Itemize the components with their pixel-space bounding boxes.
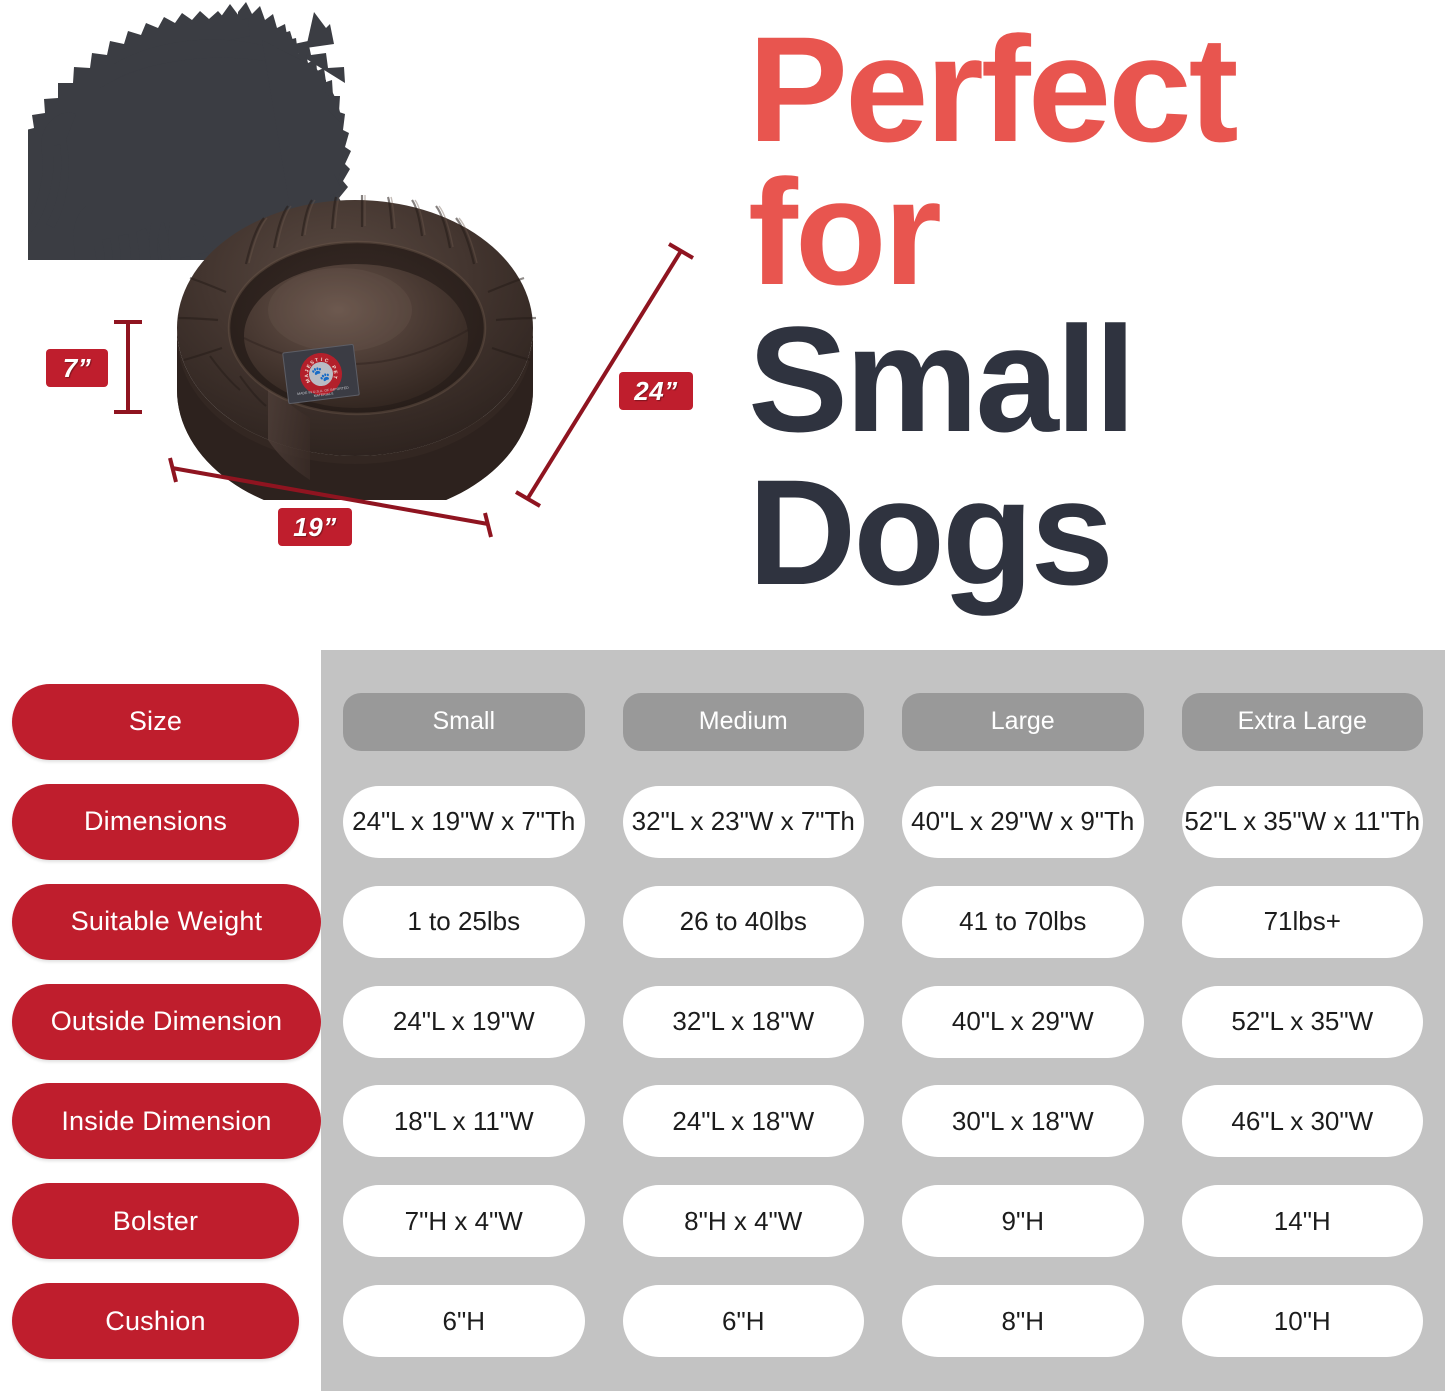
- cell-value: 41 to 70lbs: [902, 886, 1144, 958]
- column-header-large: Large: [902, 693, 1144, 751]
- row-label-dimensions: Dimensions: [12, 784, 299, 860]
- cell-value: 40"L x 29"W x 9"Th: [902, 786, 1144, 858]
- table-row: Dimensions: [12, 772, 321, 872]
- cell-value: 52"L x 35"W x 11"Th: [1182, 786, 1424, 858]
- table-row: Inside Dimension: [12, 1071, 321, 1171]
- hero-section: 🐾 MAJESTICPET MADE IN U.S.A. OF IMPORTED…: [0, 0, 1445, 650]
- row-label-suitable-weight: Suitable Weight: [12, 884, 321, 960]
- column-header-extra-large: Extra Large: [1182, 693, 1424, 751]
- column-header-small: Small: [343, 693, 585, 751]
- table-row-outside-dimension: 24"L x 19"W 32"L x 18"W 40"L x 29"W 52"L…: [343, 972, 1423, 1072]
- cell-value: 26 to 40lbs: [623, 886, 865, 958]
- row-label-cushion: Cushion: [12, 1283, 299, 1359]
- cell-value: 46"L x 30"W: [1182, 1085, 1424, 1157]
- cell-value: 24"L x 19"W: [343, 986, 585, 1058]
- cell-value: 71lbs+: [1182, 886, 1424, 958]
- cell-value: 32"L x 18"W: [623, 986, 865, 1058]
- cell-value: 18"L x 11"W: [343, 1085, 585, 1157]
- table-row: Bolster: [12, 1171, 321, 1271]
- spec-row-label-column: Size Dimensions Suitable Weight Outside …: [0, 650, 321, 1391]
- cell-value: 6"H: [343, 1285, 585, 1357]
- cell-value: 8"H x 4"W: [623, 1185, 865, 1257]
- cell-value: 1 to 25lbs: [343, 886, 585, 958]
- headline: Perfect for Small Dogs: [748, 18, 1438, 609]
- cell-value: 52"L x 35"W: [1182, 986, 1424, 1058]
- cell-value: 24"L x 18"W: [623, 1085, 865, 1157]
- spec-value-column: Small Medium Large Extra Large 24"L x 19…: [321, 650, 1445, 1391]
- callout-length: 24”: [619, 372, 693, 410]
- table-row: Size: [12, 672, 321, 772]
- cell-value: 8"H: [902, 1285, 1144, 1357]
- headline-line-2: Small: [748, 303, 1438, 456]
- callout-height: 7”: [46, 349, 108, 387]
- table-row-dimensions: 24"L x 19"W x 7"Th 32"L x 23"W x 7"Th 40…: [343, 772, 1423, 872]
- row-label-size: Size: [12, 684, 299, 760]
- row-label-bolster: Bolster: [12, 1183, 299, 1259]
- cell-value: 40"L x 29"W: [902, 986, 1144, 1058]
- table-row: Cushion: [12, 1271, 321, 1371]
- cell-value: 10"H: [1182, 1285, 1424, 1357]
- headline-line-1: Perfect for: [748, 18, 1438, 303]
- table-row: Suitable Weight: [12, 872, 321, 972]
- spec-table-panel: Size Dimensions Suitable Weight Outside …: [0, 650, 1445, 1391]
- table-row-inside-dimension: 18"L x 11"W 24"L x 18"W 30"L x 18"W 46"L…: [343, 1071, 1423, 1171]
- table-row-bolster: 7"H x 4"W 8"H x 4"W 9"H 14"H: [343, 1171, 1423, 1271]
- headline-line-3: Dogs: [748, 456, 1438, 609]
- table-header-row: Small Medium Large Extra Large: [343, 672, 1423, 772]
- row-label-outside-dimension: Outside Dimension: [12, 984, 321, 1060]
- cell-value: 7"H x 4"W: [343, 1185, 585, 1257]
- callout-width: 19”: [278, 508, 352, 546]
- cell-value: 14"H: [1182, 1185, 1424, 1257]
- row-label-inside-dimension: Inside Dimension: [12, 1083, 321, 1159]
- table-row-cushion: 6"H 6"H 8"H 10"H: [343, 1271, 1423, 1371]
- cell-value: 9"H: [902, 1185, 1144, 1257]
- table-row-suitable-weight: 1 to 25lbs 26 to 40lbs 41 to 70lbs 71lbs…: [343, 872, 1423, 972]
- cell-value: 6"H: [623, 1285, 865, 1357]
- cell-value: 32"L x 23"W x 7"Th: [623, 786, 865, 858]
- cell-value: 30"L x 18"W: [902, 1085, 1144, 1157]
- cell-value: 24"L x 19"W x 7"Th: [343, 786, 585, 858]
- infographic-page: 🐾 MAJESTICPET MADE IN U.S.A. OF IMPORTED…: [0, 0, 1445, 1391]
- column-header-medium: Medium: [623, 693, 865, 751]
- table-row: Outside Dimension: [12, 972, 321, 1072]
- dimension-lines: [0, 0, 780, 620]
